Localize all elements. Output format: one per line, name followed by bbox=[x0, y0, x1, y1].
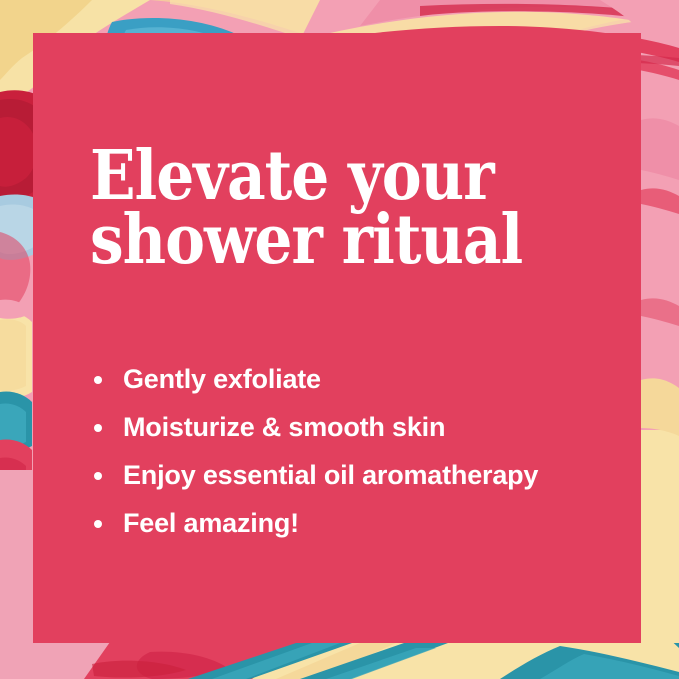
benefit-text: Enjoy essential oil aromatherapy bbox=[123, 460, 538, 490]
bullet-icon bbox=[94, 376, 102, 384]
list-item: Gently exfoliate bbox=[90, 355, 650, 403]
bullet-icon bbox=[94, 424, 102, 432]
promo-image: Elevate your shower ritual Gently exfoli… bbox=[0, 0, 679, 679]
benefit-text: Feel amazing! bbox=[123, 508, 299, 538]
list-item: Moisturize & smooth skin bbox=[90, 403, 650, 451]
headline-line-2: shower ritual bbox=[90, 209, 565, 273]
page-title: Elevate your shower ritual bbox=[90, 145, 565, 273]
bullet-icon bbox=[94, 472, 102, 480]
benefit-text: Moisturize & smooth skin bbox=[123, 412, 445, 442]
benefit-text: Gently exfoliate bbox=[123, 364, 321, 394]
promo-card: Elevate your shower ritual Gently exfoli… bbox=[33, 33, 641, 643]
list-item: Enjoy essential oil aromatherapy bbox=[90, 451, 650, 499]
benefit-list: Gently exfoliate Moisturize & smooth ski… bbox=[90, 355, 650, 547]
bullet-icon bbox=[94, 520, 102, 528]
list-item: Feel amazing! bbox=[90, 499, 650, 547]
